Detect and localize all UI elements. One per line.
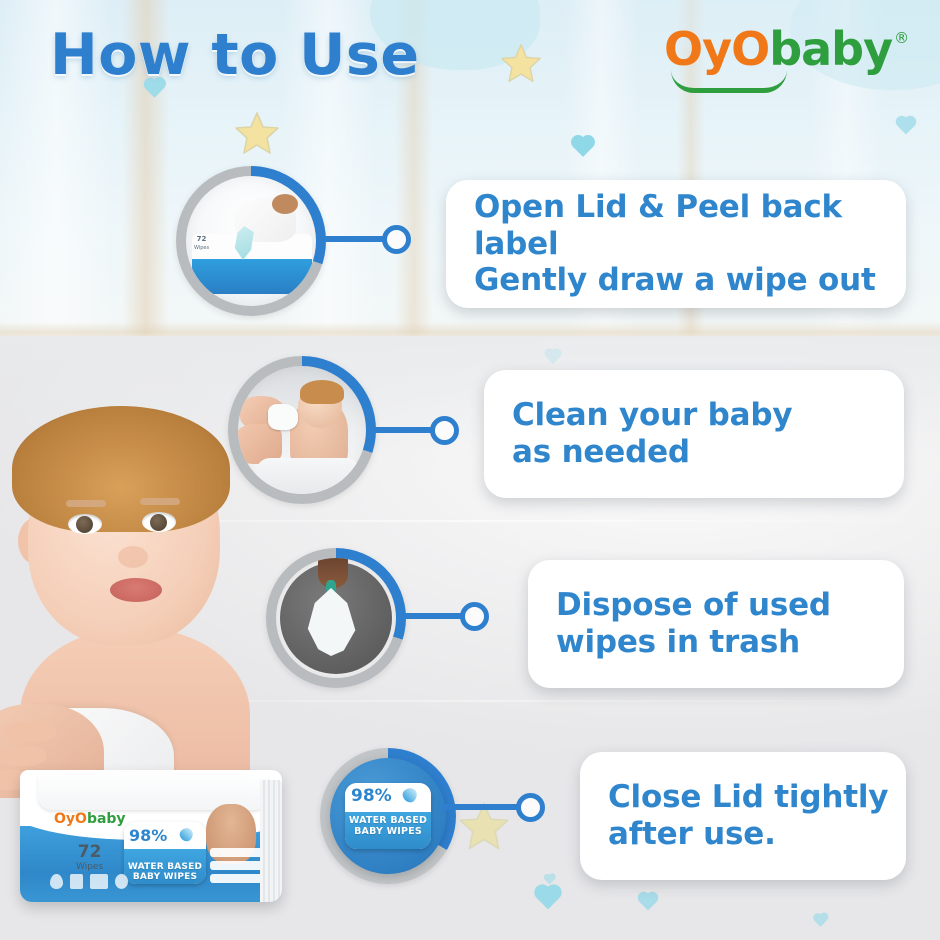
badge-label-text: WATER BASEDBABY WIPES (345, 812, 431, 837)
pack-count-text: 72Wipes (194, 236, 209, 251)
baby-brow-left (66, 500, 106, 507)
brand-logo: OyO baby ® (664, 26, 909, 88)
dermatologist-cert-icon (115, 874, 128, 889)
water-drop-cert-icon (50, 874, 63, 889)
logo-text-oyo: OyO (664, 26, 769, 72)
peta-cert-icon (90, 874, 108, 889)
step-4-text: Close Lid tightly after use. (580, 779, 888, 852)
badge-line-2: BABY WIPES (354, 826, 422, 837)
baby-brow-right (140, 498, 180, 505)
how-to-use-infographic: How to Use OyO baby ® 72Wipes Open Lid &… (0, 0, 940, 940)
step-4-card: Close Lid tightly after use. (580, 752, 906, 880)
package-logo: OyObaby (54, 812, 126, 826)
baby-eye-left (68, 514, 102, 534)
package-badge-label: WATER BASEDBABY WIPES (124, 849, 206, 882)
package-badge-line-2: BABY WIPES (133, 872, 197, 882)
step-2-connector-dot (430, 416, 459, 445)
step-1-text: Open Lid & Peel back label Gently draw a… (446, 189, 906, 299)
product-package: OyObaby 72 Wipes 98% WATER BASEDBABY WIP… (6, 762, 306, 922)
step-4-connector-dot (516, 793, 545, 822)
registered-trademark-icon: ® (894, 31, 908, 46)
vegan-cert-icon (70, 874, 83, 889)
baby-iris-left (76, 516, 93, 533)
step-3-photo (276, 558, 396, 678)
package-badge-percent: 98% (129, 826, 167, 845)
step-3-connector-dot (460, 602, 489, 631)
finger-graphic (272, 194, 298, 214)
baby-iris-right (150, 514, 167, 531)
step-1-photo: 72Wipes (186, 176, 316, 306)
package-certification-icons (50, 874, 128, 889)
badge-percent-text: 98% (351, 786, 392, 806)
step-2-card: Clean your baby as needed (484, 370, 904, 498)
baby-hair-graphic (300, 380, 344, 404)
logo-swoosh-icon (671, 70, 787, 93)
package-logo-oyo: OyO (54, 811, 87, 827)
baby-mouth (110, 578, 162, 602)
package-body: OyObaby 72 Wipes 98% WATER BASEDBABY WIP… (20, 770, 282, 902)
baby-nose (118, 546, 148, 568)
package-count-block: 72 Wipes (76, 844, 103, 872)
step-2-text: Clean your baby as needed (484, 397, 792, 470)
page-title: How to Use (50, 22, 420, 88)
baby-portrait-photo (0, 378, 290, 798)
package-logo-baby: baby (87, 811, 126, 827)
package-count-number: 72 (76, 844, 103, 861)
step-1-card: Open Lid & Peel back label Gently draw a… (446, 180, 906, 308)
baby-eye-right (142, 512, 176, 532)
badge-line-1: WATER BASED (349, 815, 427, 826)
package-side-ridges (260, 780, 282, 902)
package-count-label: Wipes (76, 862, 103, 872)
step-1-connector-dot (382, 225, 411, 254)
baby-hair (12, 406, 230, 532)
finger-3 (4, 722, 56, 742)
logo-text-baby: baby (769, 26, 892, 72)
step-3-card: Dispose of used wipes in trash (528, 560, 904, 688)
package-badge-line-1: WATER BASED (128, 862, 202, 872)
package-badge: 98% WATER BASEDBABY WIPES (124, 822, 206, 884)
step-3-text: Dispose of used wipes in trash (528, 587, 831, 660)
water-based-badge: 98% WATER BASEDBABY WIPES (345, 783, 431, 849)
